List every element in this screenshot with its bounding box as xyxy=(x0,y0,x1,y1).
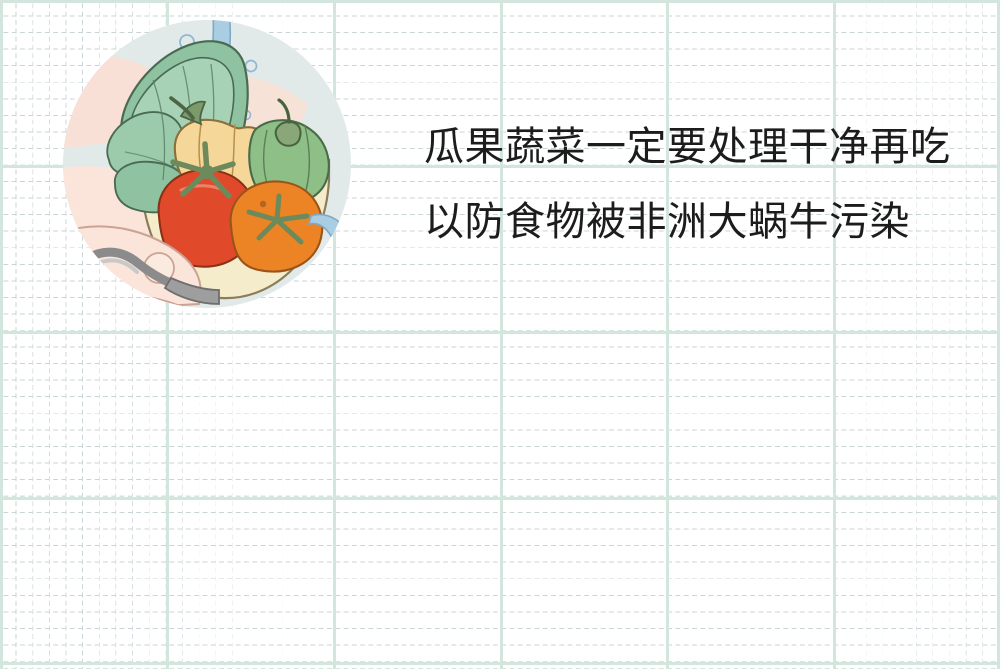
green-pepper-stem xyxy=(276,122,301,146)
washing-vegetables-illustration xyxy=(63,20,351,308)
orange-navel xyxy=(260,201,266,207)
advice-text-vegetables: 瓜果蔬菜一定要处理干净再吃 以防食物被非洲大蜗牛污染 xyxy=(424,110,984,260)
advice-line: 以防食物被非洲大蜗牛污染 xyxy=(424,185,984,260)
tomato-calyx-center xyxy=(200,165,214,179)
health-advice-poster: 瓜果蔬菜一定要处理干净再吃 以防食物被非洲大蜗牛污染 xyxy=(0,0,1000,669)
advice-row-wild-seafood: 不要食用任何野生蜗牛和野生 淡水虾蟹蛙,想吃去正规餐厅吃! xyxy=(0,334,1000,669)
advice-line: 瓜果蔬菜一定要处理干净再吃 xyxy=(424,110,984,185)
water-droplet xyxy=(246,61,257,72)
advice-row-vegetables: 瓜果蔬菜一定要处理干净再吃 以防食物被非洲大蜗牛污染 xyxy=(0,0,1000,334)
orange-shape xyxy=(231,181,323,271)
